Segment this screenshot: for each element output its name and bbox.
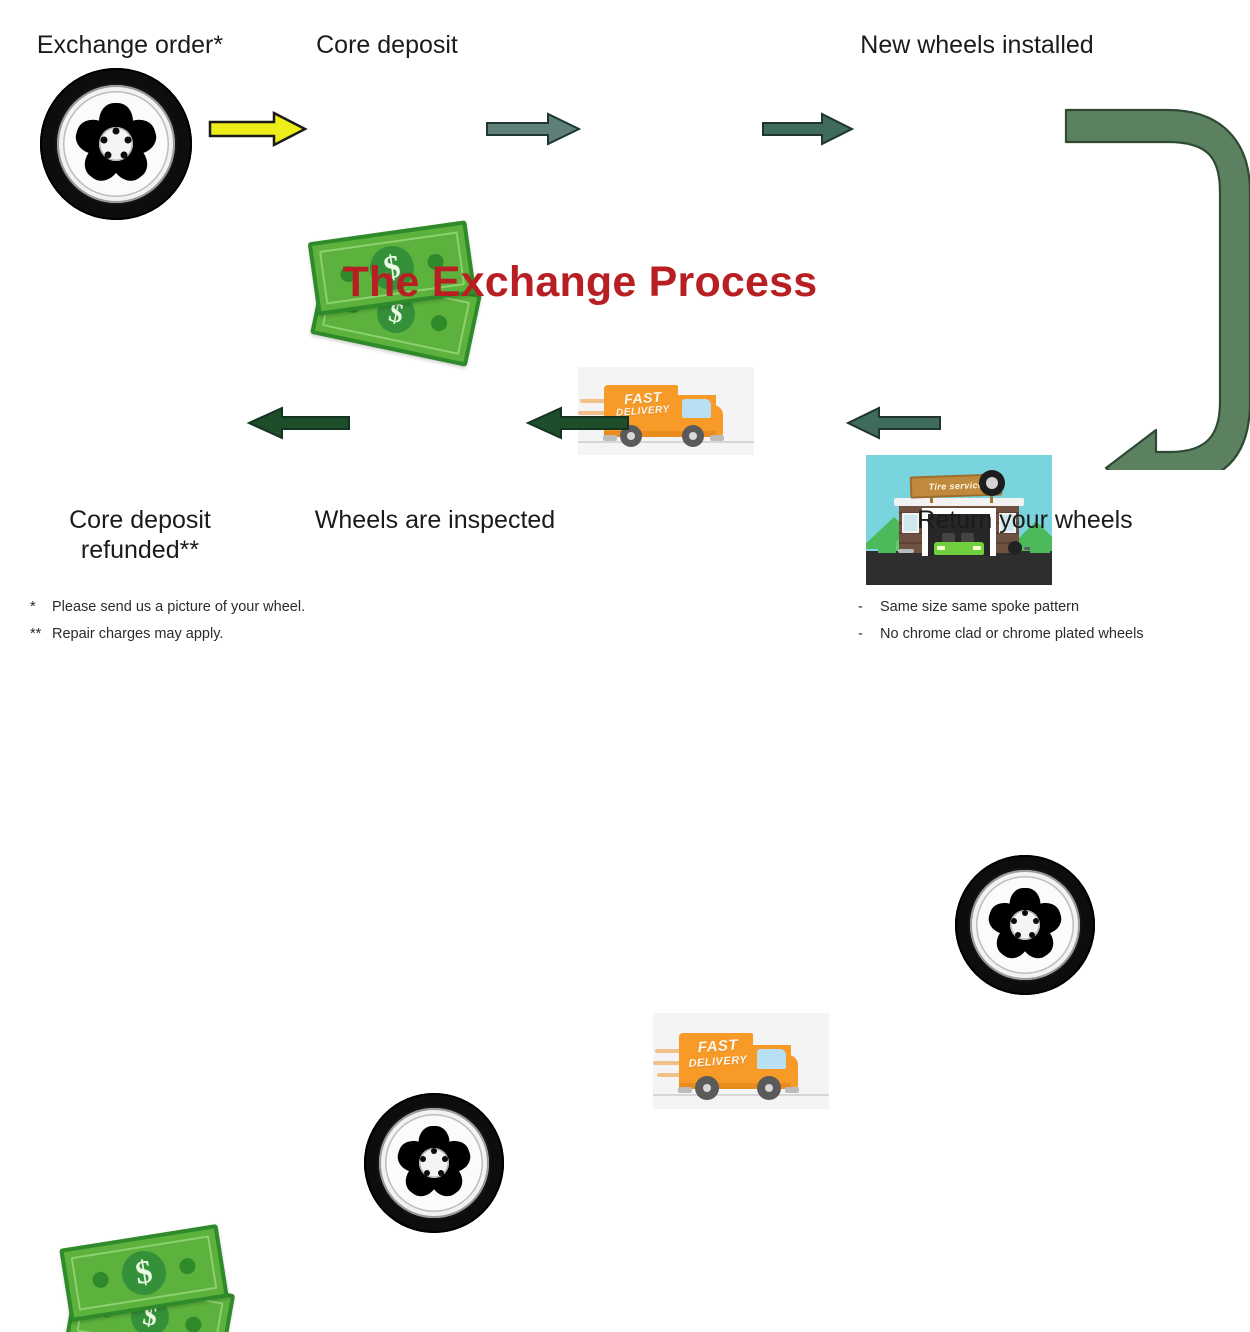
step-label-exchange-order: Exchange order*: [0, 30, 260, 61]
arrow-inspect-to-refund: [246, 406, 350, 440]
footnote-text: No chrome clad or chrome plated wheels: [880, 626, 1144, 642]
sign-tire-icon: [979, 470, 1005, 496]
delivery-truck-icon: FAST DELIVERY: [653, 1013, 829, 1109]
truck-wheel: [682, 425, 704, 447]
truck-wheel: [757, 1076, 781, 1100]
truck-window: [757, 1049, 786, 1069]
footnotes-right: -Same size same spoke pattern -No chrome…: [858, 594, 1144, 648]
footnote-text: Please send us a picture of your wheel.: [52, 599, 305, 615]
arrow-shipping-to-inspect: [525, 406, 629, 440]
footnote-marker: -: [858, 594, 880, 621]
step-label-core-deposit: Core deposit: [282, 30, 492, 61]
truck-wheel: [695, 1076, 719, 1100]
step-label-wheels-inspected: Wheels are inspected: [295, 505, 575, 536]
footnotes-left: *Please send us a picture of your wheel.…: [30, 594, 305, 648]
footnote-item: -Same size same spoke pattern: [858, 594, 1144, 621]
wheel-rim: [57, 85, 176, 204]
step-label-return-your-wheels: Return your wheels: [880, 505, 1170, 536]
footnote-text: Repair charges may apply.: [52, 626, 223, 642]
exchange-process-diagram: Exchange order* Core deposit New wheels …: [0, 0, 1250, 666]
footnote-item: **Repair charges may apply.: [30, 621, 305, 648]
step-label-core-deposit-refunded-line2: refunded**: [20, 535, 260, 566]
step-label-core-deposit-refunded-line1: Core deposit: [20, 505, 260, 536]
footnote-marker: **: [30, 621, 52, 648]
cash-money-icon: $ $: [62, 1230, 242, 1332]
alloy-wheel-icon: [364, 1093, 504, 1233]
arrow-install-to-return: [1048, 100, 1250, 470]
alloy-wheel-icon: [40, 68, 192, 220]
truck-window: [682, 399, 711, 418]
step-label-new-wheels-installed: New wheels installed: [800, 30, 1154, 61]
arrow-deposit-to-shipping: [486, 112, 581, 146]
page-title: The Exchange Process: [0, 258, 1160, 307]
footnote-marker: -: [858, 621, 880, 648]
arrow-order-to-deposit: [208, 110, 308, 148]
footnote-text: Same size same spoke pattern: [880, 599, 1079, 615]
footnote-item: -No chrome clad or chrome plated wheels: [858, 621, 1144, 648]
alloy-wheel-icon: [955, 855, 1095, 995]
arrow-return-to-shipping: [845, 406, 941, 440]
tire-service-sign-text: Tire service: [928, 480, 983, 492]
arrow-shipping-to-install: [762, 112, 854, 146]
footnote-marker: *: [30, 594, 52, 621]
footnote-item: *Please send us a picture of your wheel.: [30, 594, 305, 621]
